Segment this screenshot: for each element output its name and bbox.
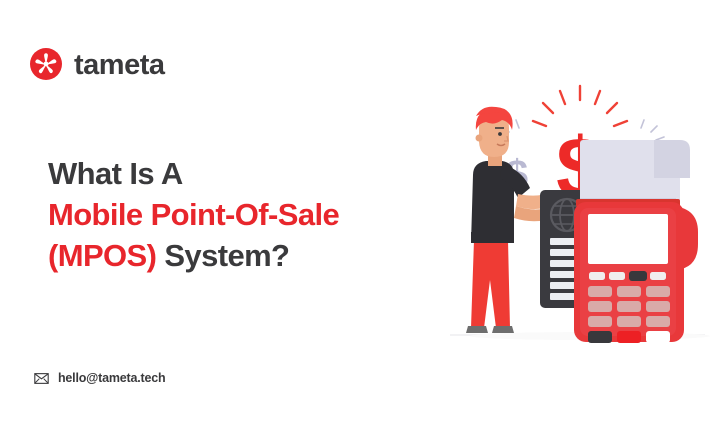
person-ear (476, 135, 483, 142)
page-title: What Is A Mobile Point-Of-Sale (MPOS) Sy… (48, 153, 448, 276)
email-address: hello@tameta.tech (58, 372, 165, 385)
person-eye (498, 132, 502, 136)
receipt-paper (580, 140, 690, 204)
terminal-keypad (588, 286, 670, 327)
headline-rest: System? (156, 238, 289, 273)
brand-logo[interactable]: tameta (30, 48, 165, 80)
envelope-icon (34, 373, 49, 384)
person-shoe-left (466, 326, 488, 333)
slide-canvas: tameta What Is A Mobile Point-Of-Sale (M… (0, 0, 720, 438)
headline-line-1: What Is A (48, 153, 448, 194)
headline-line-3: (MPOS) System? (48, 235, 448, 276)
headline-line-2: Mobile Point-Of-Sale (48, 194, 448, 235)
asterisk-flower-icon (30, 48, 62, 80)
brand-name: tameta (74, 51, 165, 80)
person-pants (471, 240, 510, 328)
dollar-rays-right (641, 120, 664, 140)
person-shoe-right (492, 326, 514, 333)
headline-accent: (MPOS) (48, 238, 156, 273)
mpos-payment-illustration: $ $ $ (440, 80, 720, 370)
terminal-screen (588, 214, 668, 264)
contact-email[interactable]: hello@tameta.tech (34, 372, 165, 385)
brand-name-text: tameta (74, 49, 165, 81)
pos-terminal (574, 140, 698, 344)
